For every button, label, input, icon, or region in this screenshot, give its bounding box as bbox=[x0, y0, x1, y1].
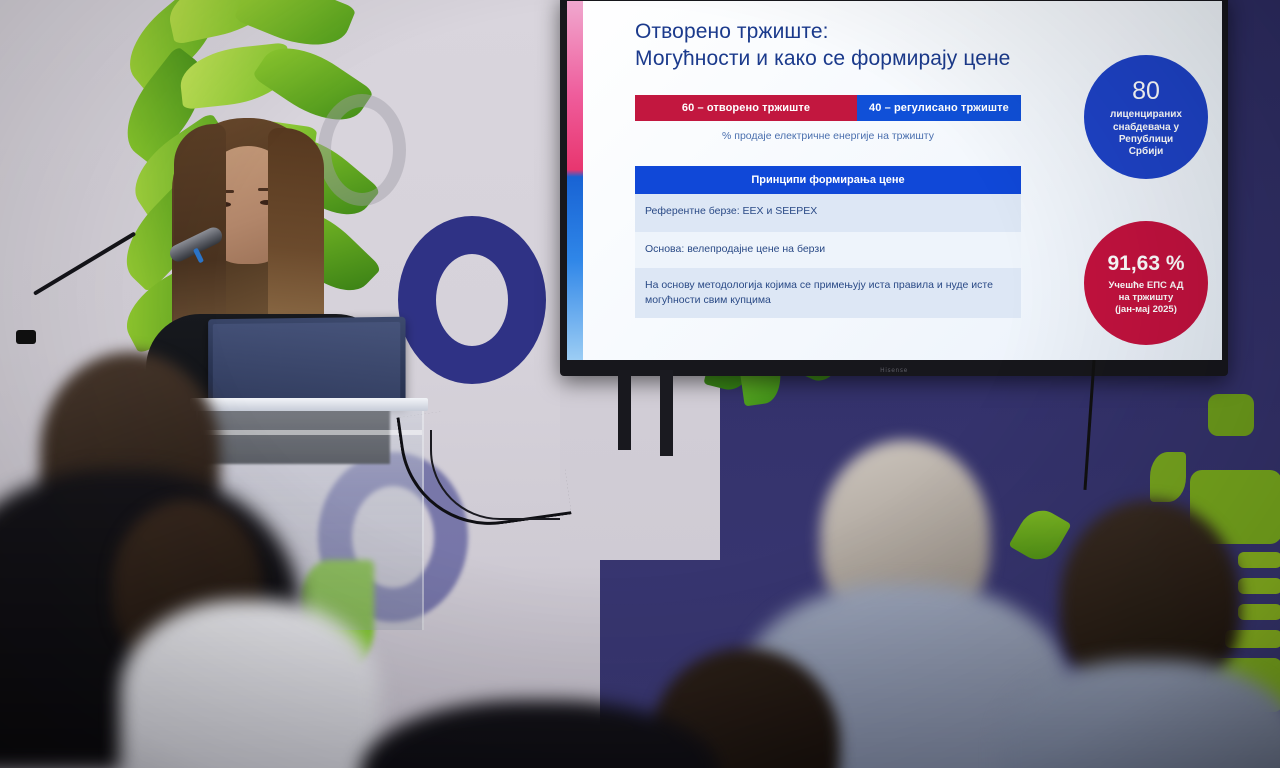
kpi-suppliers-caption: лиценцираних снабдевача у Републици Срби… bbox=[1110, 109, 1182, 158]
green-block-pattern-4 bbox=[1208, 394, 1254, 436]
tv-screen: Отворено тржиште:Могућности и како се фо… bbox=[567, 1, 1222, 360]
bar-segment-open-market: 60 – отворено тржиште bbox=[635, 95, 857, 121]
green-block-pattern-2 bbox=[1150, 452, 1186, 502]
bar-caption: % продаје електричне енергије на тржишту bbox=[635, 130, 1021, 142]
market-split-bar: 60 – отворено тржиште 40 – регулисано тр… bbox=[635, 95, 1021, 121]
green-bar-pattern-3 bbox=[1238, 604, 1280, 620]
tv-brand-logo: Hisense bbox=[880, 367, 908, 374]
bar-segment-regulated-market: 40 – регулисано тржиште bbox=[857, 95, 1021, 121]
audience-shoulders bbox=[120, 600, 380, 768]
green-bar-pattern-2 bbox=[1238, 578, 1280, 594]
table-header: Принципи формирања цене bbox=[635, 166, 1021, 194]
tv-stand-leg-right bbox=[660, 370, 673, 456]
slide-title-line1: Отворено тржиште: bbox=[635, 20, 829, 43]
presentation-slide: Отворено тржиште:Могућности и како се фо… bbox=[567, 1, 1222, 360]
blue-o-logo bbox=[398, 216, 546, 384]
table-row: Референтне берзе: EEX и SEEPEX bbox=[635, 194, 1021, 232]
conference-room-scene: Отворено тржиште:Могућности и како се фо… bbox=[0, 0, 1280, 768]
table-row: На основу методологија којима се примењу… bbox=[635, 268, 1021, 318]
kpi-suppliers-value: 80 bbox=[1132, 76, 1160, 107]
podium-top-surface bbox=[190, 398, 428, 411]
tv-stand-leg-left bbox=[618, 370, 631, 450]
kpi-market-share-caption: Учешће ЕПС АД на тржишту (јан-мај 2025) bbox=[1109, 280, 1184, 316]
podium-edge bbox=[198, 430, 422, 435]
laptop-screen bbox=[208, 317, 405, 408]
kpi-market-share-value: 91,63 % bbox=[1107, 251, 1184, 277]
microphone-base bbox=[16, 330, 36, 344]
kpi-badge-suppliers: 80 лиценцираних снабдевача у Републици С… bbox=[1084, 55, 1208, 179]
table-row: Основа: велепродајне цене на берзи bbox=[635, 232, 1021, 268]
slide-content: Отворено тржиште:Могућности и како се фо… bbox=[583, 1, 1222, 360]
wall-mounted-tv: Отворено тржиште:Могућности и како се фо… bbox=[560, 0, 1228, 376]
price-principles-table: Принципи формирања цене Референтне берзе… bbox=[635, 166, 1021, 318]
kpi-badge-market-share: 91,63 % Учешће ЕПС АД на тржишту (јан-ма… bbox=[1084, 221, 1208, 345]
slide-accent-stripe bbox=[567, 1, 583, 360]
green-bar-pattern-1 bbox=[1238, 552, 1280, 568]
laptop-display bbox=[213, 322, 400, 402]
slide-title-line2: Могућности и како се формирају цене bbox=[635, 47, 1010, 70]
